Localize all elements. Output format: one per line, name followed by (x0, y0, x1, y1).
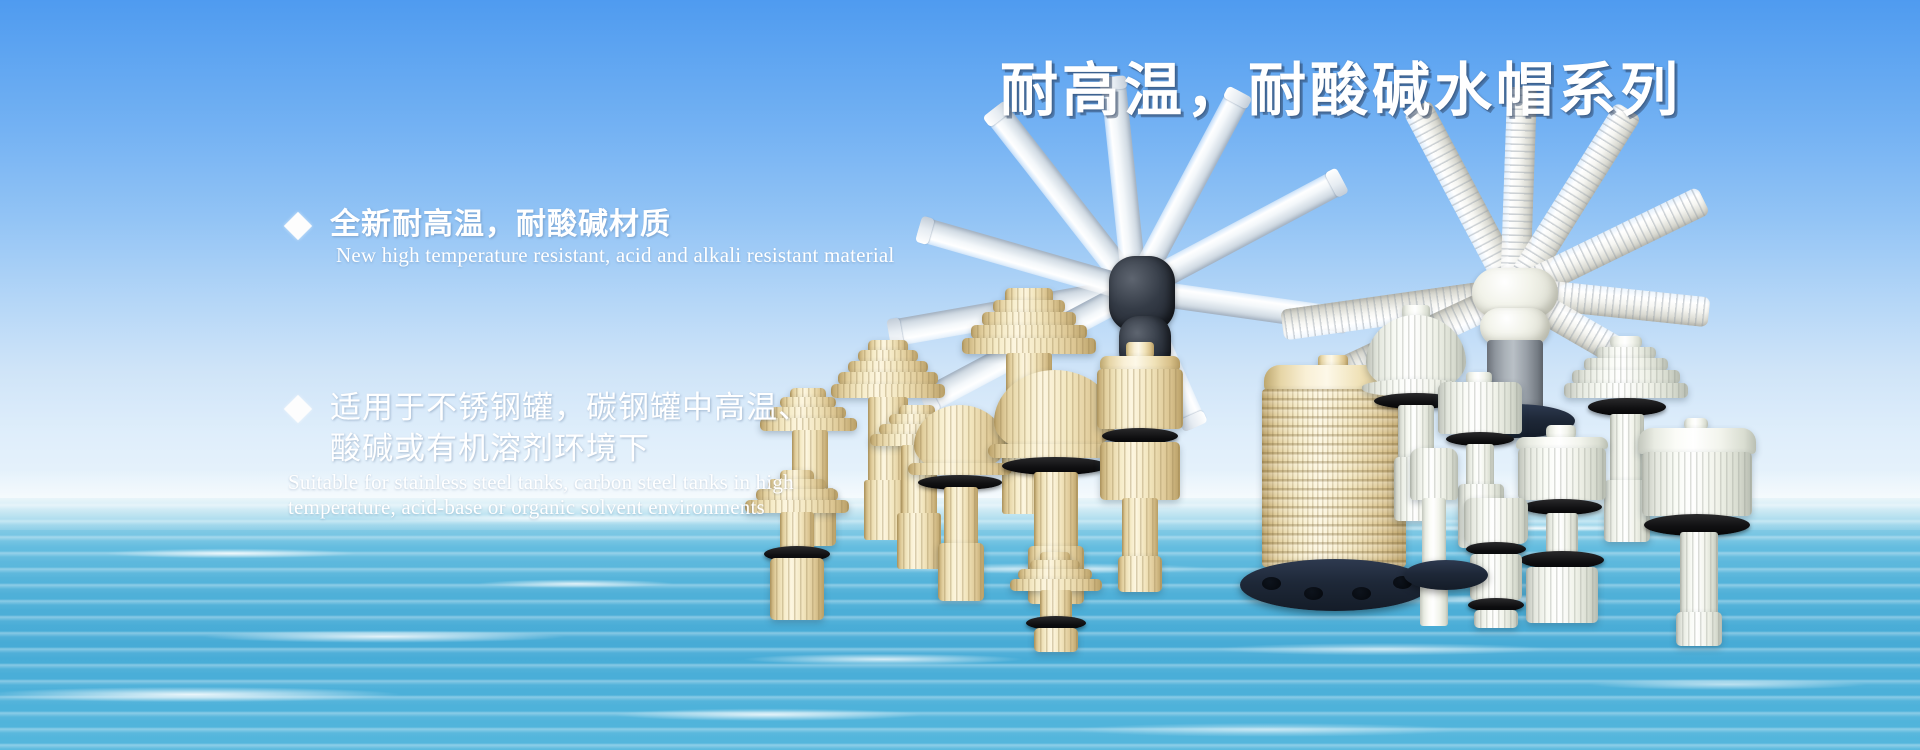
ribbed-dome-nozzle-white (1628, 418, 1768, 648)
stepped-cone-nozzle-beige (1008, 552, 1104, 652)
mounting-flange (1404, 560, 1488, 590)
diamond-bullet-icon (284, 395, 312, 423)
feature-1-en: New high temperature resistant, acid and… (336, 243, 894, 268)
diamond-bullet-icon (284, 212, 312, 240)
feature-bullet-2: 适用于不锈钢罐，碳钢罐中高温、 酸碱或有机溶剂环境下 Suitable for … (288, 388, 810, 519)
feature-2-en: Suitable for stainless steel tanks, carb… (288, 470, 810, 520)
product-banner: 耐高温，耐酸碱水帽系列 全新耐高温，耐酸碱材质 New high tempera… (0, 0, 1920, 750)
feature-bullet-1: 全新耐高温，耐酸碱材质 New high temperature resista… (288, 205, 894, 267)
feature-2-cn: 适用于不锈钢罐，碳钢罐中高温、 酸碱或有机溶剂环境下 (330, 388, 810, 470)
feature-1-cn: 全新耐高温，耐酸碱材质 (330, 205, 894, 245)
page-title: 耐高温，耐酸碱水帽系列 (1000, 58, 1682, 125)
